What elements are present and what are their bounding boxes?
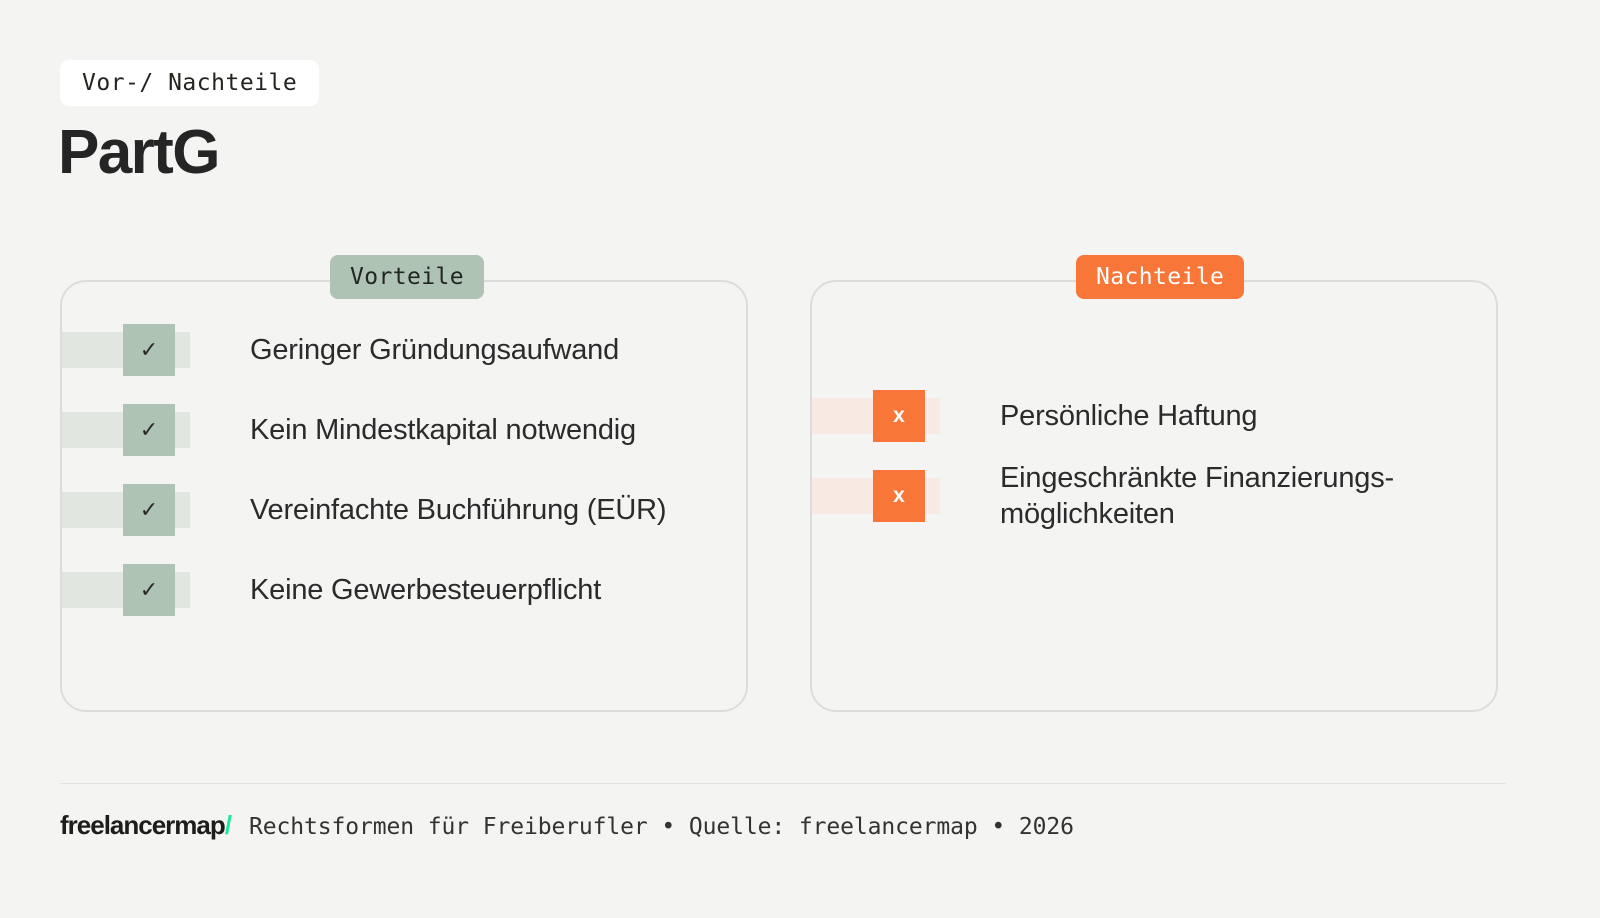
footer-divider xyxy=(60,783,1506,784)
freelancermap-logo: freelancermap/ xyxy=(60,810,231,841)
page-title: PartG xyxy=(58,122,219,184)
list-item-label: Keine Gewerbesteuerpflicht xyxy=(250,572,601,608)
list-item: ✓ Keine Gewerbesteuerpflicht xyxy=(62,550,746,630)
footer-source-text: Rechtsformen für Freiberufler • Quelle: … xyxy=(249,814,1074,840)
list-item: ✓ Kein Mindestkapital notwendig xyxy=(62,390,746,470)
list-item-label: Persönliche Haftung xyxy=(1000,398,1257,434)
eyebrow-badge: Vor-/ Nachteile xyxy=(60,60,319,106)
cons-badge: Nachteile xyxy=(1076,255,1244,299)
check-icon: ✓ xyxy=(123,484,175,536)
pros-item-list: ✓ Geringer Gründungsaufwand ✓ Kein Minde… xyxy=(62,310,746,630)
logo-wordmark: freelancermap xyxy=(60,810,225,840)
footer: freelancermap/ Rechtsformen für Freiberu… xyxy=(60,810,1074,841)
check-icon: ✓ xyxy=(123,324,175,376)
logo-slash-icon: / xyxy=(225,810,231,840)
list-item: x Eingeschränkte Finanzierungs- möglichk… xyxy=(812,456,1496,536)
cons-card: Nachteile x Persönliche Haftung x Einges… xyxy=(810,280,1498,712)
list-item-label: Kein Mindestkapital notwendig xyxy=(250,412,636,448)
pros-card: Vorteile ✓ Geringer Gründungsaufwand ✓ K… xyxy=(60,280,748,712)
cons-item-list: x Persönliche Haftung x Eingeschränkte F… xyxy=(812,376,1496,536)
list-item: ✓ Geringer Gründungsaufwand xyxy=(62,310,746,390)
infographic-page: Vor-/ Nachteile PartG Vorteile ✓ Geringe… xyxy=(0,0,1600,918)
list-item-label: Eingeschränkte Finanzierungs- möglichkei… xyxy=(1000,460,1394,533)
list-item: x Persönliche Haftung xyxy=(812,376,1496,456)
check-icon: ✓ xyxy=(123,404,175,456)
cross-icon: x xyxy=(873,390,925,442)
list-item-label: Geringer Gründungsaufwand xyxy=(250,332,619,368)
pros-badge: Vorteile xyxy=(330,255,484,299)
comparison-cards: Vorteile ✓ Geringer Gründungsaufwand ✓ K… xyxy=(60,280,1506,712)
check-icon: ✓ xyxy=(123,564,175,616)
cross-icon: x xyxy=(873,470,925,522)
list-item-label: Vereinfachte Buchführung (EÜR) xyxy=(250,492,666,528)
list-item: ✓ Vereinfachte Buchführung (EÜR) xyxy=(62,470,746,550)
